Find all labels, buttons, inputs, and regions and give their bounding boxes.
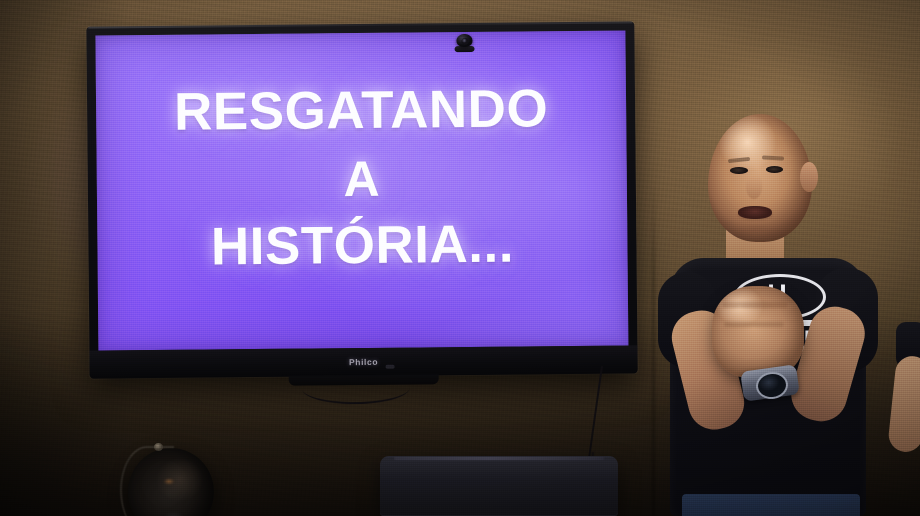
webcam-icon[interactable] [454, 34, 474, 52]
presenter-knuckle-shadow-2 [724, 322, 784, 327]
presenter-chin-shadow [724, 222, 788, 238]
presenter-clasped-hands [712, 286, 804, 378]
presenter-knuckle-shadow [722, 302, 788, 308]
tv-brand-label: Philco [90, 354, 638, 369]
presentation-photo: RESGATANDO A HISTÓRIA... Philco [0, 0, 920, 516]
presenter-nose [746, 175, 762, 199]
presentation-slide: RESGATANDO A HISTÓRIA... [95, 30, 628, 350]
chair-edge-highlight [394, 457, 603, 460]
tv-screen[interactable]: RESGATANDO A HISTÓRIA... [95, 30, 628, 350]
presenter-jeans [682, 494, 860, 516]
desk-globe[interactable] [118, 446, 216, 516]
presenter-ear [800, 162, 818, 192]
globe-meridian-ring [120, 446, 174, 516]
slide-line-3: HISTÓRIA... [211, 218, 514, 273]
slide-line-1: RESGATANDO [174, 83, 549, 139]
globe-axis-knob [154, 443, 163, 451]
office-chair[interactable] [380, 456, 618, 516]
presenter[interactable]: H AN [640, 96, 920, 516]
webcam-lens [461, 38, 468, 45]
presenter-mouth [738, 206, 772, 219]
presenter-eye-left [730, 167, 748, 174]
wall-mounted-tv[interactable]: RESGATANDO A HISTÓRIA... Philco [86, 21, 637, 378]
presenter-eye-right [766, 166, 783, 173]
slide-line-2: A [343, 155, 380, 204]
chair-backrest [380, 456, 618, 516]
